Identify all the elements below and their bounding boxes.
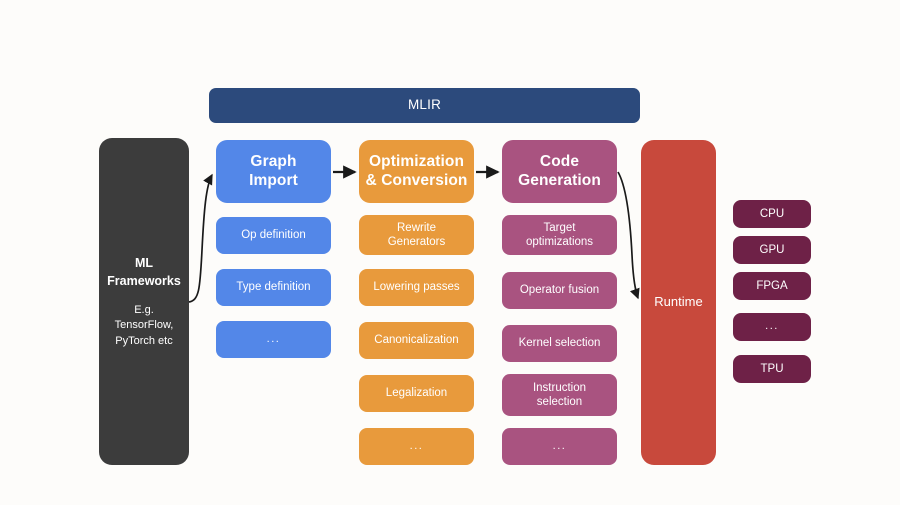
optimization-item-more[interactable]: ... [359,428,474,465]
ml-frameworks-subtitle-line-1: E.g. [115,303,174,318]
ml-frameworks-box: ML Frameworks E.g. TensorFlow, PyTorch e… [99,138,189,465]
code-generation-item-more[interactable]: ... [502,428,617,465]
hardware-item-gpu[interactable]: GPU [733,236,811,264]
item-label: Legalization [386,386,447,400]
mlir-header-label: MLIR [408,97,441,113]
graph-import-item-type-definition[interactable]: Type definition [216,269,331,306]
item-label: Canonicalization [374,333,458,347]
ml-frameworks-subtitle-line-3: PyTorch etc [115,334,174,349]
graph-import-item-more[interactable]: ... [216,321,331,358]
item-label: ... [553,440,567,453]
diagram-canvas: MLIR ML Frameworks E.g. TensorFlow, PyTo… [0,0,900,505]
stage-head-code-generation-line-1: Code [518,153,601,172]
optimization-item-rewrite-generators[interactable]: Rewrite Generators [359,215,474,255]
item-label: ... [267,333,281,346]
item-label: GPU [760,243,785,257]
item-label-line-2: selection [533,395,586,409]
stage-head-graph-import-line-2: Import [249,172,298,191]
item-label-line-1: Instruction [533,381,586,395]
item-label: ... [765,320,779,333]
optimization-item-canonicalization[interactable]: Canonicalization [359,322,474,359]
hardware-item-tpu[interactable]: TPU [733,355,811,383]
item-label-line-1: Rewrite [388,221,446,235]
item-label: CPU [760,207,784,221]
code-generation-item-instruction-selection[interactable]: Instruction selection [502,374,617,416]
ml-frameworks-subtitle-line-2: TensorFlow, [115,318,174,333]
ml-frameworks-subtitle: E.g. TensorFlow, PyTorch etc [115,303,174,349]
item-label: FPGA [756,279,787,293]
item-label-line-2: Generators [388,235,446,249]
code-generation-item-target-optimizations[interactable]: Target optimizations [502,215,617,255]
stage-head-graph-import-line-1: Graph [249,153,298,172]
graph-import-item-op-definition[interactable]: Op definition [216,217,331,254]
item-label: Lowering passes [373,280,459,294]
item-label: Kernel selection [519,336,601,350]
optimization-item-lowering-passes[interactable]: Lowering passes [359,269,474,306]
item-label: Op definition [241,228,306,242]
ml-frameworks-title: ML Frameworks [107,254,181,290]
item-label: Operator fusion [520,283,599,297]
stage-head-optimization-line-2: & Conversion [366,172,468,191]
stage-head-code-generation-line-2: Generation [518,172,601,191]
runtime-box: Runtime [641,140,716,465]
hardware-item-more[interactable]: ... [733,313,811,341]
item-label: ... [410,440,424,453]
item-label-line-1: Target [526,221,593,235]
ml-frameworks-title-line-1: ML [107,254,181,272]
code-generation-item-operator-fusion[interactable]: Operator fusion [502,272,617,309]
ml-frameworks-title-line-2: Frameworks [107,272,181,290]
mlir-header-bar: MLIR [209,88,640,123]
item-label-line-2: optimizations [526,235,593,249]
hardware-item-fpga[interactable]: FPGA [733,272,811,300]
code-generation-item-kernel-selection[interactable]: Kernel selection [502,325,617,362]
item-label: Type definition [236,280,310,294]
stage-head-optimization-line-1: Optimization [366,153,468,172]
runtime-label: Runtime [654,293,702,312]
stage-head-optimization-conversion[interactable]: Optimization & Conversion [359,140,474,203]
arrow-code-generation-to-runtime [618,172,638,298]
optimization-item-legalization[interactable]: Legalization [359,375,474,412]
item-label: TPU [761,362,784,376]
arrow-frameworks-to-graph-import [189,175,212,302]
hardware-item-cpu[interactable]: CPU [733,200,811,228]
stage-head-graph-import[interactable]: Graph Import [216,140,331,203]
stage-head-code-generation[interactable]: Code Generation [502,140,617,203]
